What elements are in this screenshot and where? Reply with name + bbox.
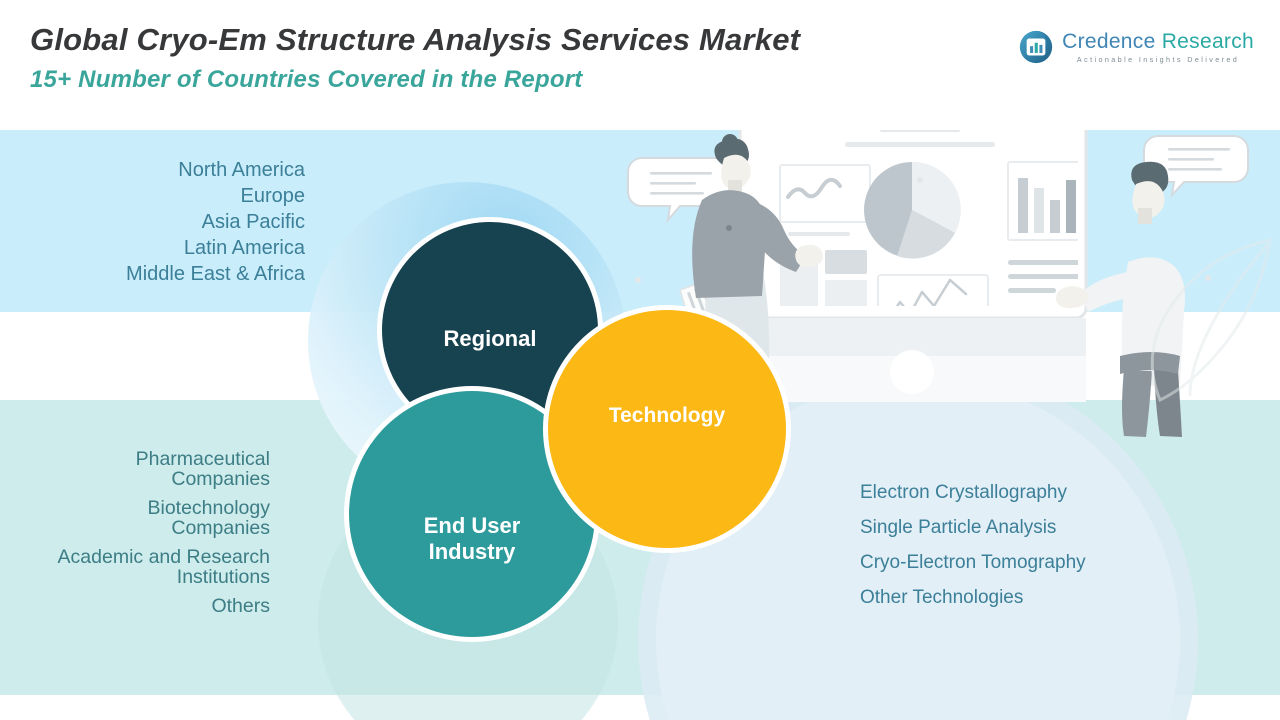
list-item-line2: Companies (0, 470, 270, 490)
logo-name-research: Research (1162, 30, 1254, 53)
list-item-line1: Pharmaceutical (0, 450, 270, 470)
circle-end-user-industry-label: End User Industry (424, 513, 521, 565)
list-item-line2: Institutions (0, 568, 270, 588)
decorative-dot-left (635, 277, 641, 283)
list-item: Academic and Research Institutions (0, 548, 270, 587)
infographic-canvas: Global Cryo-Em Structure Analysis Servic… (0, 0, 1280, 720)
circle-technology-label: Technology (609, 404, 725, 429)
list-item-line2: Companies (0, 519, 270, 539)
list-item: Others (0, 597, 270, 617)
list-item: Middle East & Africa (0, 264, 305, 284)
list-item: Biotechnology Companies (0, 499, 270, 538)
list-item: North America (0, 160, 305, 180)
circle-label-line1: End User (424, 513, 521, 538)
page-title: Global Cryo-Em Structure Analysis Servic… (30, 22, 800, 58)
list-item: Pharmaceutical Companies (0, 450, 270, 489)
list-item: Other Technologies (860, 588, 1200, 607)
header: Global Cryo-Em Structure Analysis Servic… (0, 0, 1280, 130)
leaf-decoration-icon (1100, 230, 1280, 430)
logo-name: Credence Research (1062, 31, 1254, 52)
circle-label-line2: Industry (429, 539, 516, 564)
credence-research-logo[interactable]: Credence Research Actionable Insights De… (1019, 24, 1254, 70)
circle-technology[interactable]: Technology (548, 310, 786, 548)
circle-regional-label: Regional (444, 326, 537, 352)
logo-tagline: Actionable Insights Delivered (1062, 56, 1254, 63)
end-user-industry-segment-list: Pharmaceutical Companies Biotechnology C… (0, 450, 270, 627)
monitor-stand-knob (890, 350, 934, 394)
list-item: Cryo-Electron Tomography (860, 553, 1200, 572)
list-item-line1: Biotechnology (0, 499, 270, 519)
page-subtitle: 15+ Number of Countries Covered in the R… (30, 66, 582, 94)
list-item-line1: Others (0, 597, 270, 617)
bar-chart-circle-icon (1019, 30, 1053, 64)
list-item: Electron Crystallography (860, 483, 1200, 502)
list-item: Asia Pacific (0, 212, 305, 232)
logo-text: Credence Research Actionable Insights De… (1062, 31, 1254, 63)
decorative-dot-center (917, 177, 923, 183)
list-item: Europe (0, 186, 305, 206)
list-item-line1: Academic and Research (0, 548, 270, 568)
technology-segment-list: Electron Crystallography Single Particle… (860, 483, 1200, 623)
list-item: Latin America (0, 238, 305, 258)
list-item: Single Particle Analysis (860, 518, 1200, 537)
regional-segment-list: North America Europe Asia Pacific Latin … (0, 160, 305, 290)
logo-name-credence: Credence (1062, 30, 1155, 53)
